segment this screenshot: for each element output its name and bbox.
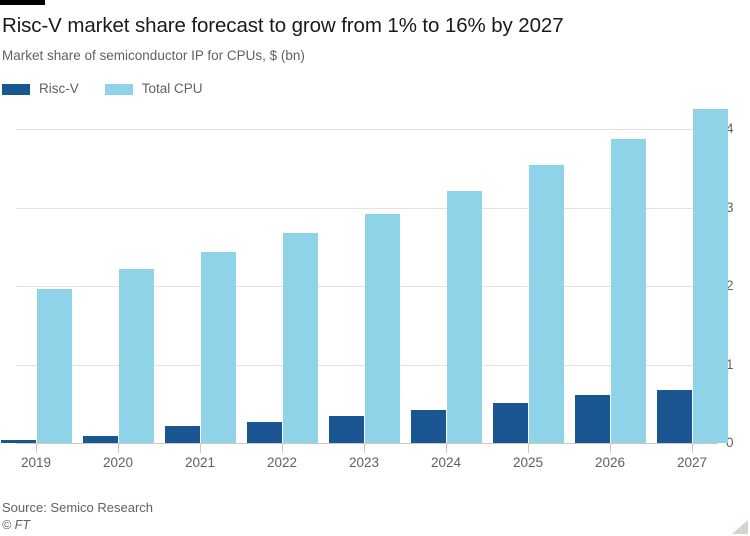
x-axis-label-2023: 2023 [329,455,399,471]
plot-area: 01234 [0,105,750,450]
legend-label-total-cpu: Total CPU [142,82,203,96]
ft-corner-mark [726,518,748,534]
x-axis-tick-2026 [610,444,611,453]
chart-legend: Risc-V Total CPU [2,82,203,96]
bar-risc-v-2026[interactable] [575,395,610,443]
bar-risc-v-2020[interactable] [83,436,118,443]
x-axis-tick-2021 [200,444,201,453]
x-axis-label-2027: 2027 [657,455,727,471]
x-axis-label-2021: 2021 [165,455,235,471]
bars [0,105,750,450]
source-note: Source: Semico Research [2,500,153,516]
x-axis: 201920202021202220232024202520262027 [0,443,750,483]
bar-total-cpu-2021[interactable] [201,252,236,443]
ft-brand-rule [0,0,45,5]
legend-item-total-cpu[interactable]: Total CPU [105,82,203,96]
x-axis-label-2026: 2026 [575,455,645,471]
bar-total-cpu-2019[interactable] [37,289,72,443]
bar-risc-v-2025[interactable] [493,403,528,443]
x-axis-tick-2023 [364,444,365,453]
x-axis-label-2019: 2019 [1,455,71,471]
bar-risc-v-2021[interactable] [165,426,200,443]
x-axis-tick-2024 [446,444,447,453]
copyright-note: © FT [2,518,30,533]
x-axis-label-2022: 2022 [247,455,317,471]
bar-total-cpu-2026[interactable] [611,139,646,443]
page-title: Risc-V market share forecast to grow fro… [2,13,732,38]
bar-risc-v-2022[interactable] [247,422,282,443]
bar-total-cpu-2023[interactable] [365,214,400,443]
legend-item-risc-v[interactable]: Risc-V [2,82,79,96]
x-axis-label-2024: 2024 [411,455,481,471]
chart-subtitle: Market share of semiconductor IP for CPU… [2,47,732,65]
bar-risc-v-2023[interactable] [329,416,364,443]
bar-total-cpu-2027[interactable] [693,109,728,443]
legend-swatch-total-cpu [105,84,133,95]
chart-page: Risc-V market share forecast to grow fro… [0,0,750,536]
x-axis-tick-2020 [118,444,119,453]
bar-risc-v-2024[interactable] [411,410,446,443]
x-axis-tick-2019 [36,444,37,453]
x-axis-label-2025: 2025 [493,455,563,471]
bar-total-cpu-2024[interactable] [447,191,482,443]
x-axis-tick-2027 [692,444,693,453]
x-axis-label-2020: 2020 [83,455,153,471]
legend-swatch-risc-v [2,84,30,95]
bar-total-cpu-2025[interactable] [529,165,564,443]
legend-label-risc-v: Risc-V [39,82,79,96]
x-axis-tick-2025 [528,444,529,453]
bar-total-cpu-2020[interactable] [119,269,154,443]
x-axis-tick-2022 [282,444,283,453]
bar-total-cpu-2022[interactable] [283,233,318,443]
bar-risc-v-2027[interactable] [657,390,692,443]
